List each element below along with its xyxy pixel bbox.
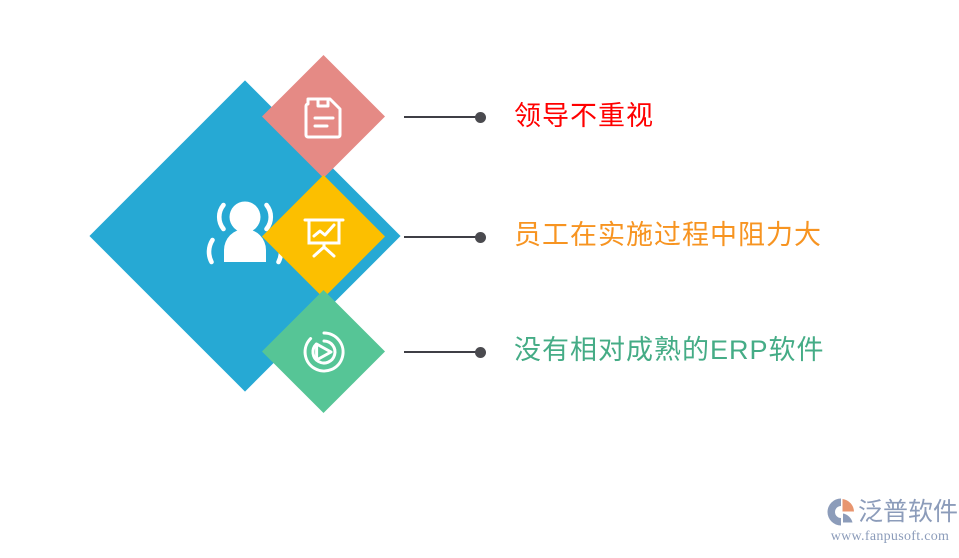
logo-company-name: 泛普软件	[858, 497, 958, 527]
connector-3-line	[404, 351, 476, 353]
infographic-canvas: 领导不重视 员工在实施过程中阻力大 没有相对成熟的ERP软件 泛普软件 www.…	[0, 0, 959, 558]
item-label-1: 领导不重视	[514, 103, 654, 130]
brand-logo[interactable]: 泛普软件 www.fanpusoft.com	[826, 496, 954, 548]
fanpu-logo-icon	[826, 497, 856, 527]
connector-line-1	[404, 110, 486, 124]
item-label-3: 没有相对成熟的ERP软件	[514, 337, 825, 364]
logo-row: 泛普软件	[826, 496, 954, 528]
connector-2-dot	[475, 232, 486, 243]
connector-1-dot	[475, 112, 486, 123]
item-label-2: 员工在实施过程中阻力大	[514, 222, 822, 249]
diamond-diagram: 领导不重视 员工在实施过程中阻力大 没有相对成熟的ERP软件	[0, 0, 959, 470]
connector-line-2	[404, 230, 486, 244]
connector-line-3	[404, 345, 486, 359]
logo-website-url: www.fanpusoft.com	[826, 529, 954, 545]
connector-3-dot	[475, 347, 486, 358]
connector-2-line	[404, 236, 476, 238]
connector-1-line	[404, 116, 476, 118]
